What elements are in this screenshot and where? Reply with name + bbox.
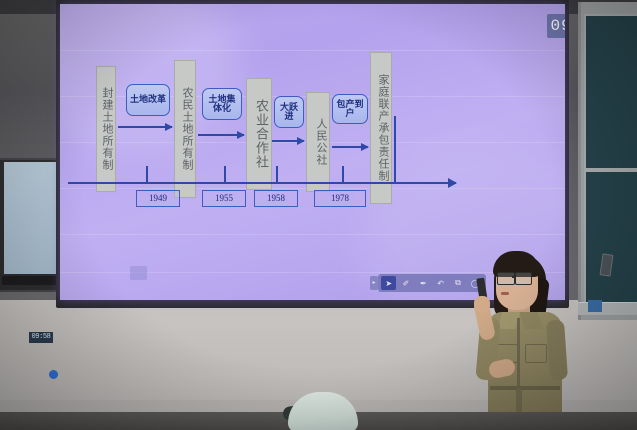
projection-screen[interactable]: 09:57 封建土地所有制农民土地所有制农业合作社人民公社家庭联产承包责任制土地… [60, 4, 565, 300]
chalk-box [588, 300, 602, 312]
transition-box-2: 大跃进 [274, 96, 304, 128]
year-box-1: 1955 [202, 190, 246, 207]
toolbar-handle[interactable]: ▸ [370, 276, 378, 290]
flow-arrow-0 [118, 126, 172, 128]
flow-arrow-3 [332, 146, 368, 148]
transition-box-0: 土地改革 [126, 84, 170, 116]
teacher-glasses-right [515, 272, 532, 285]
chalkboard-ledge [578, 302, 637, 315]
teacher-mouth [501, 292, 509, 295]
transition-box-3: 包产到户 [332, 94, 368, 124]
stage-box-1: 农民土地所有制 [174, 60, 196, 198]
teacher-belt [490, 386, 560, 390]
flow-arrow-1 [198, 134, 244, 136]
teacher-pocket-right [525, 344, 547, 363]
year-box-0: 1949 [136, 190, 180, 207]
year-tick-1 [224, 166, 226, 183]
teacher-glasses-bridge [512, 276, 516, 278]
stage-box-3: 人民公社 [306, 92, 330, 192]
side-monitor-screen[interactable]: 09:58 [4, 162, 56, 274]
highlighter-tool[interactable]: ✒ [416, 276, 431, 290]
undo-tool[interactable]: ↶ [433, 276, 448, 290]
timeline-axis [68, 182, 456, 184]
side-monitor-clock: 09:58 [29, 332, 53, 343]
transition-box-1: 土地集体化 [202, 88, 242, 120]
teacher-hand-upper [474, 296, 490, 313]
pen-tool[interactable]: ✐ [398, 276, 413, 290]
chalkboard-panel-upper [584, 14, 637, 170]
chalkboard-panel-lower [584, 170, 637, 306]
year-box-3: 1978 [314, 190, 366, 207]
year-box-2: 1958 [254, 190, 298, 207]
teacher-glasses-left [497, 272, 515, 285]
flow-arrow-2 [272, 140, 304, 142]
stage-box-0: 封建土地所有制 [96, 66, 116, 192]
year-tick-3 [342, 166, 344, 183]
classroom-scene: 09:58 09:57 封建土地所有制农民土地所有制农业合作社人民公社家庭联产承… [0, 0, 637, 430]
copy-tool[interactable]: ⧉ [450, 276, 465, 290]
screen-corner-widget[interactable] [130, 266, 147, 280]
cursor-tool[interactable]: ➤ [381, 276, 396, 290]
smartboard-toolbar[interactable]: ➤✐✒↶⧉◯ [378, 274, 486, 292]
year-tick-0 [146, 166, 148, 183]
assistant-fab-icon[interactable] [49, 370, 58, 379]
timeline-diagram: 封建土地所有制农民土地所有制农业合作社人民公社家庭联产承包责任制土地改革土地集体… [60, 4, 565, 300]
timeline-axis-drop [394, 116, 396, 184]
year-tick-2 [276, 166, 278, 183]
side-monitor-base [2, 276, 60, 285]
stage-box-2: 农业合作社 [246, 78, 272, 190]
